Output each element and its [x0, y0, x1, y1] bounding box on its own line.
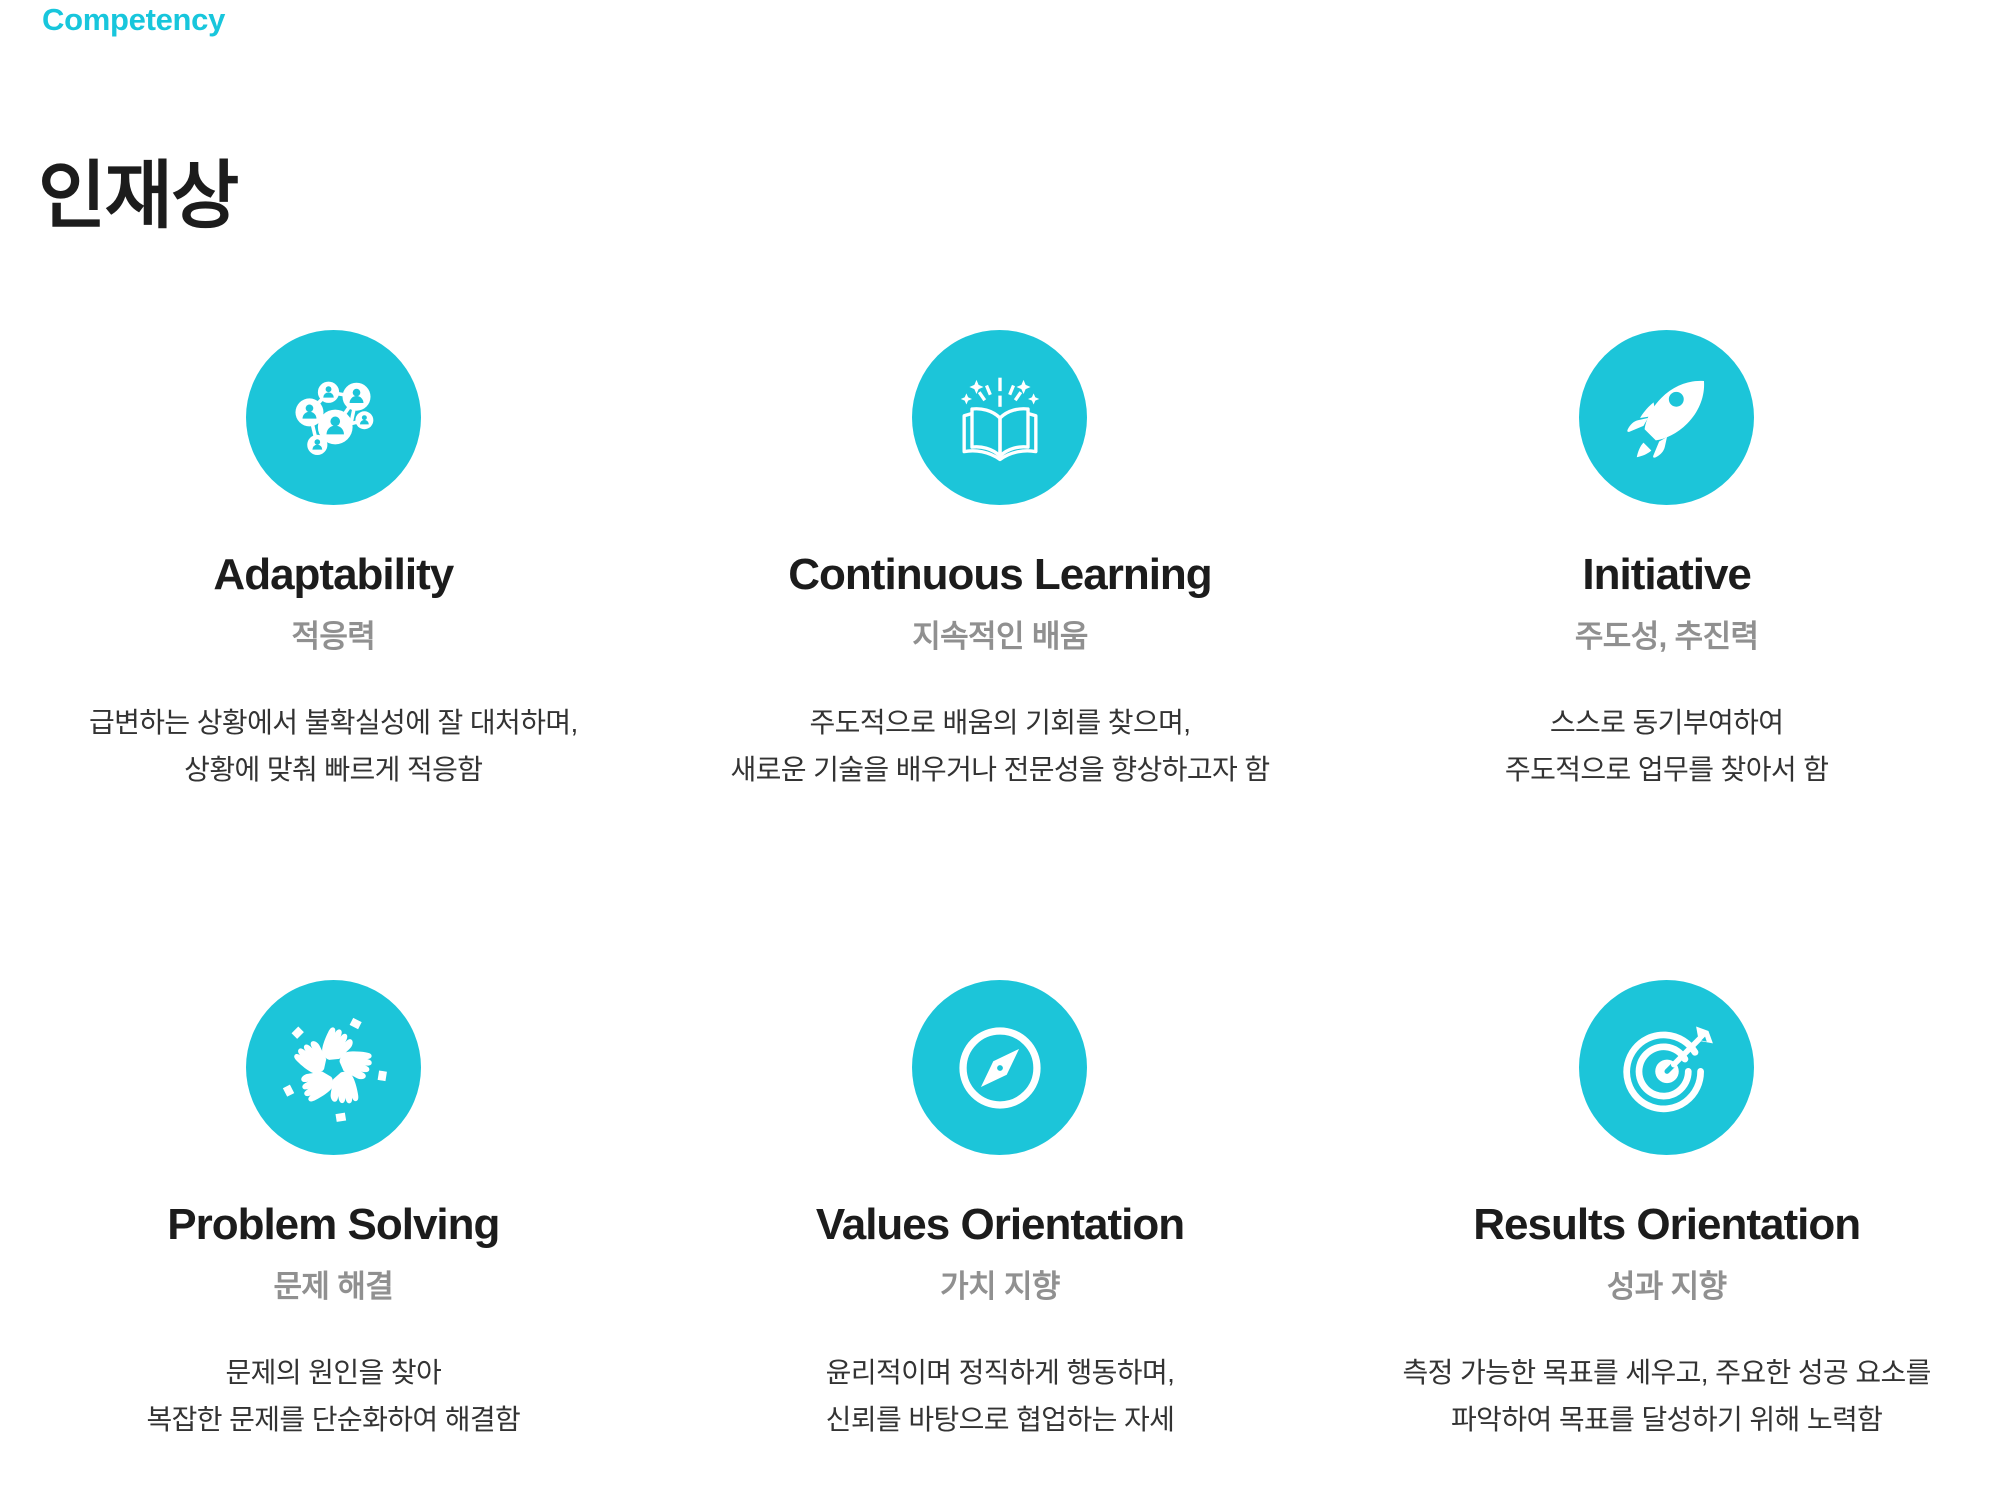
card-description: 측정 가능한 목표를 세우고, 주요한 성공 요소를 파악하여 목표를 달성하기…: [1403, 1349, 1931, 1443]
competency-page: Competency 인재상: [0, 0, 2000, 1502]
icon-badge: [246, 330, 421, 505]
card-description: 급변하는 상황에서 불확실성에 잘 대처하며, 상황에 맞춰 빠르게 적응함: [89, 699, 578, 793]
competency-card-values-orientation: Values Orientation 가치 지향 윤리적이며 정직하게 행동하며…: [667, 980, 1334, 1310]
card-title: Continuous Learning: [788, 549, 1211, 601]
card-description: 문제의 원인을 찾아 복잡한 문제를 단순화하여 해결함: [146, 1349, 520, 1443]
card-description: 주도적으로 배움의 기회를 찾으며, 새로운 기술을 배우거나 전문성을 향상하…: [730, 699, 1269, 793]
section-eyebrow: Competency: [42, 0, 225, 40]
target-arrow-icon: [1611, 1012, 1723, 1124]
card-title: Initiative: [1582, 549, 1751, 601]
icon-badge: [912, 330, 1087, 505]
icon-badge: [1579, 330, 1754, 505]
card-title: Results Orientation: [1473, 1199, 1860, 1251]
card-description: 스스로 동기부여하여 주도적으로 업무를 찾아서 함: [1505, 699, 1828, 793]
competency-card-continuous-learning: Continuous Learning 지속적인 배움 주도적으로 배움의 기회…: [667, 330, 1334, 660]
people-network-icon: [277, 362, 389, 474]
competency-card-results-orientation: Results Orientation 성과 지향 측정 가능한 목표를 세우고…: [1333, 980, 2000, 1310]
open-book-sparkle-icon: [944, 362, 1056, 474]
competency-card-initiative: Initiative 주도성, 추진력 스스로 동기부여하여 주도적으로 업무를…: [1333, 330, 2000, 660]
card-title: Values Orientation: [816, 1199, 1184, 1251]
icon-badge: [1579, 980, 1754, 1155]
competency-card-adaptability: Adaptability 적응력 급변하는 상황에서 불확실성에 잘 대처하며,…: [0, 330, 667, 660]
icon-badge: [912, 980, 1087, 1155]
card-subtitle: 주도성, 추진력: [1575, 617, 1759, 657]
five-hands-icon: [277, 1012, 389, 1124]
card-subtitle: 지속적인 배움: [912, 617, 1088, 657]
competency-card-problem-solving: Problem Solving 문제 해결 문제의 원인을 찾아 복잡한 문제를…: [0, 980, 667, 1310]
compass-icon: [944, 1012, 1056, 1124]
page-title: 인재상: [38, 154, 238, 238]
card-subtitle: 가치 지향: [940, 1267, 1060, 1307]
card-subtitle: 문제 해결: [273, 1267, 393, 1307]
card-title: Adaptability: [213, 549, 453, 601]
card-description: 윤리적이며 정직하게 행동하며, 신뢰를 바탕으로 협업하는 자세: [826, 1349, 1175, 1443]
competency-grid: Adaptability 적응력 급변하는 상황에서 불확실성에 잘 대처하며,…: [0, 330, 2000, 1310]
card-subtitle: 적응력: [291, 617, 375, 657]
icon-badge: [246, 980, 421, 1155]
card-title: Problem Solving: [167, 1199, 499, 1251]
rocket-icon: [1611, 362, 1723, 474]
card-subtitle: 성과 지향: [1607, 1267, 1727, 1307]
